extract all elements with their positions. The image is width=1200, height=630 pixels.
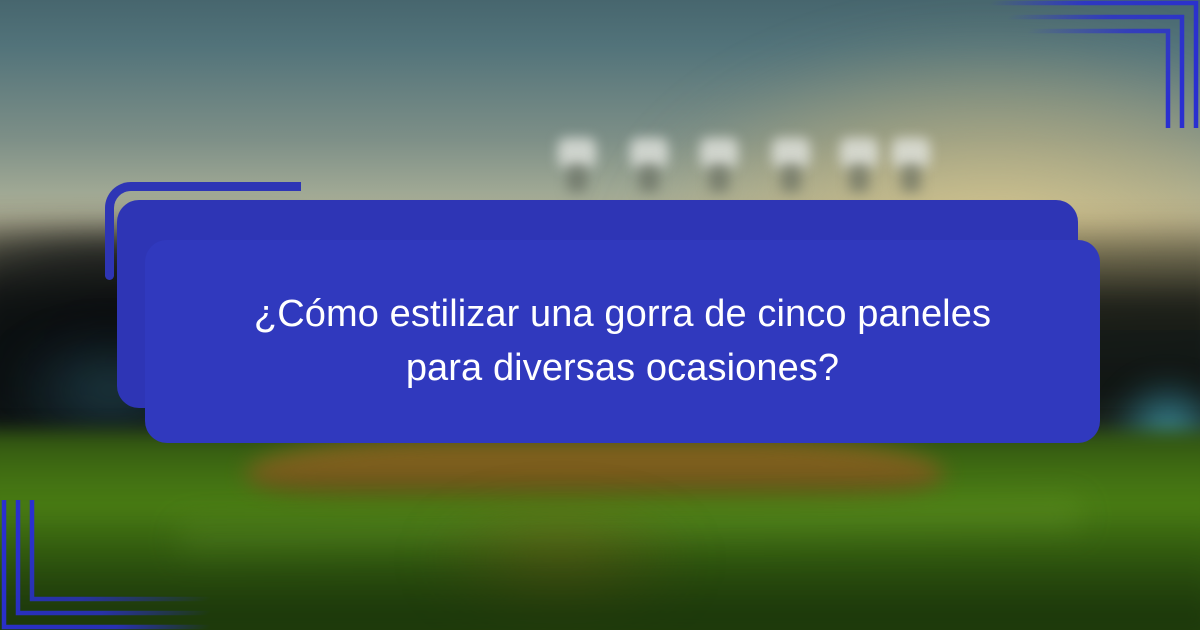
- foreground-shadow: [0, 510, 1200, 630]
- stadium-light-pole: [901, 164, 921, 192]
- page-title-line-2: para diversas ocasiones?: [406, 342, 839, 396]
- stadium-light-pole: [709, 164, 729, 192]
- page-title: ¿Cómo estilizar una gorra de cinco panel…: [145, 240, 1100, 443]
- stadium-light-pole: [567, 164, 587, 192]
- page-title-line-1: ¿Cómo estilizar una gorra de cinco panel…: [254, 288, 991, 342]
- stadium-light-towers: [540, 138, 940, 208]
- social-card-canvas: ¿Cómo estilizar una gorra de cinco panel…: [0, 0, 1200, 630]
- stadium-light-pole: [639, 164, 659, 192]
- stadium-light-pole: [849, 164, 869, 192]
- stadium-light-pole: [781, 164, 801, 192]
- infield-dirt-arc: [245, 438, 945, 502]
